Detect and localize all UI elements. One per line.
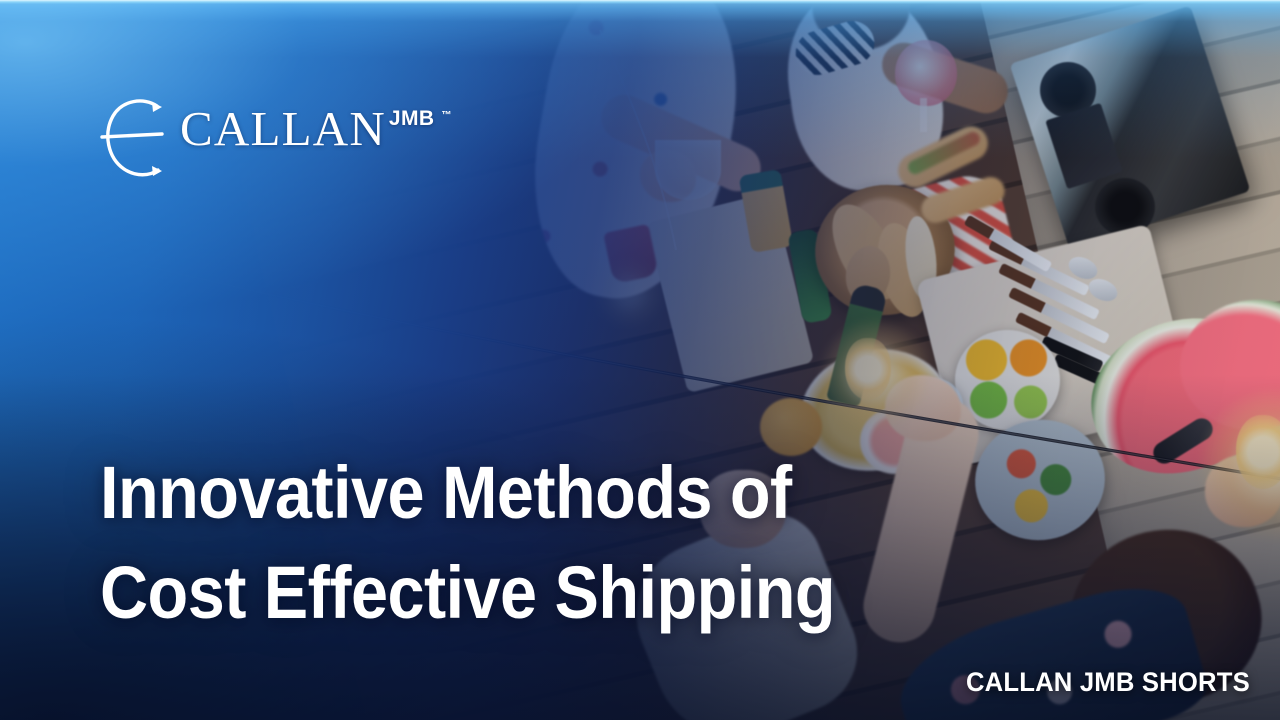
headline: Innovative Methods of Cost Effective Shi…: [100, 443, 920, 643]
callan-e-monogram-icon: [100, 96, 166, 180]
slide-content: CALLAN JMB ™ Innovative Methods of Cost …: [0, 0, 1280, 720]
logo-trademark: ™: [441, 110, 452, 121]
logo-name: CALLAN: [180, 105, 386, 152]
callan-jmb-logo[interactable]: CALLAN JMB ™: [100, 96, 452, 180]
headline-line-1: Innovative Methods of: [100, 443, 838, 543]
logo-wordmark: CALLAN JMB ™: [180, 96, 452, 152]
headline-line-2: Cost Effective Shipping: [100, 543, 838, 643]
logo-sub: JMB: [389, 107, 435, 131]
video-thumbnail-slide: CALLAN JMB ™ Innovative Methods of Cost …: [0, 0, 1280, 720]
series-kicker: CALLAN JMB SHORTS: [966, 667, 1250, 698]
